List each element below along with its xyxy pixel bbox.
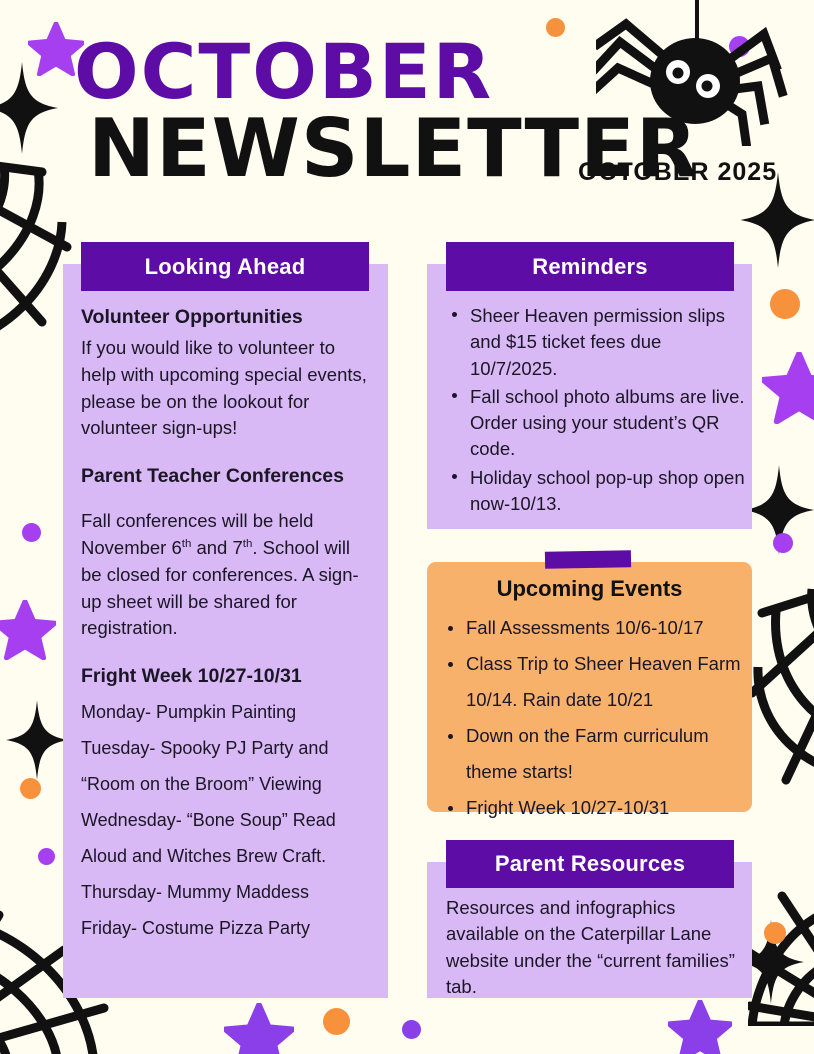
conferences-body-mid: and 7 — [191, 537, 242, 558]
list-item: Fright Week 10/27-10/31 — [440, 790, 750, 826]
dot-icon — [729, 36, 750, 57]
title-line-newsletter: Newsletter — [88, 110, 594, 188]
upcoming-events-title: Upcoming Events — [427, 576, 752, 602]
reminders-list: Sheer Heaven permission slips and $15 ti… — [446, 303, 746, 517]
dot-icon — [770, 289, 800, 319]
issue-date: October 2025 — [578, 158, 778, 188]
parent-resources-title: Parent Resources — [495, 851, 685, 877]
dot-icon — [20, 778, 41, 799]
sparkle-icon — [744, 465, 814, 555]
spiderweb-right-icon — [752, 575, 814, 790]
looking-ahead-header: Looking Ahead — [81, 242, 369, 291]
list-item: Sheer Heaven permission slips and $15 ti… — [446, 303, 746, 382]
reminders-title: Reminders — [532, 254, 648, 280]
list-item: Holiday school pop-up shop open now-10/1… — [446, 465, 746, 518]
looking-ahead-content: Volunteer Opportunities If you would lik… — [81, 305, 371, 946]
list-item: “Room on the Broom” Viewing — [81, 766, 371, 802]
page-title: October Newsletter — [74, 36, 594, 189]
fright-week-day-list: Monday- Pumpkin Painting Tuesday- Spooky… — [81, 694, 371, 946]
parent-resources-body: Resources and infographics available on … — [446, 895, 746, 1000]
title-line-october: October — [74, 36, 594, 108]
parent-resources-header: Parent Resources — [446, 840, 734, 888]
ordinal-suffix-first: th — [182, 538, 192, 550]
newsletter-page: October Newsletter October 2025 Looking … — [0, 0, 814, 1054]
dot-icon — [323, 1008, 350, 1035]
star-icon — [224, 1003, 294, 1054]
list-item: Fall school photo albums are live. Order… — [446, 384, 746, 463]
conferences-subheading: Parent Teacher Conferences — [81, 464, 371, 489]
fright-week-subheading: Fright Week 10/27-10/31 — [81, 664, 371, 689]
reminders-content: Sheer Heaven permission slips and $15 ti… — [446, 303, 746, 519]
upcoming-events-content: Fall Assessments 10/6-10/17 Class Trip t… — [440, 610, 750, 826]
list-item: Fall Assessments 10/6-10/17 — [440, 610, 750, 646]
list-item: Monday- Pumpkin Painting — [81, 694, 371, 730]
list-item: Friday- Costume Pizza Party — [81, 910, 371, 946]
dot-icon — [38, 848, 55, 865]
list-item: Aloud and Witches Brew Craft. — [81, 838, 371, 874]
dot-icon — [764, 922, 786, 944]
volunteer-body: If you would like to volunteer to help w… — [81, 335, 371, 442]
upcoming-events-list: Fall Assessments 10/6-10/17 Class Trip t… — [440, 610, 750, 826]
ordinal-suffix-second: th — [243, 538, 253, 550]
looking-ahead-title: Looking Ahead — [145, 254, 306, 280]
star-icon — [762, 352, 814, 424]
reminders-header: Reminders — [446, 242, 734, 291]
list-item: Tuesday- Spooky PJ Party and — [81, 730, 371, 766]
sparkle-icon — [6, 700, 68, 780]
list-item: Down on the Farm curriculum theme starts… — [440, 718, 750, 790]
volunteer-subheading: Volunteer Opportunities — [81, 305, 371, 330]
star-icon — [668, 1000, 732, 1054]
parent-resources-content: Resources and infographics available on … — [446, 895, 746, 1000]
list-item: Class Trip to Sheer Heaven Farm 10/14. R… — [440, 646, 750, 718]
sparkle-icon — [0, 62, 58, 154]
list-item: Wednesday- “Bone Soup” Read — [81, 802, 371, 838]
tape-strip-decoration — [545, 550, 631, 568]
spiderweb-bottom-right-icon — [748, 866, 814, 1026]
dot-icon — [546, 18, 565, 37]
star-icon — [0, 600, 56, 660]
conferences-body: Fall conferences will be held November 6… — [81, 508, 371, 642]
dot-icon — [402, 1020, 421, 1039]
dot-icon — [22, 523, 41, 542]
list-item: Thursday- Mummy Maddess — [81, 874, 371, 910]
dot-icon — [773, 533, 793, 553]
